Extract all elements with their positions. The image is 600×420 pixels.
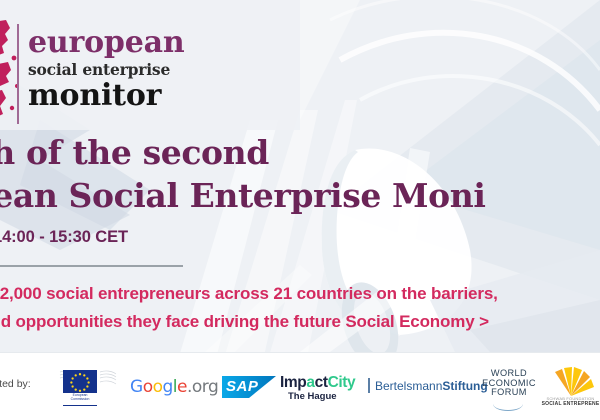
event-description[interactable]: from 2,000 social entrepreneurs across 2… <box>0 280 600 335</box>
impactcity-part-ct: ct <box>315 374 328 391</box>
logo-divider-rule <box>17 24 19 124</box>
section-divider <box>0 265 183 267</box>
sponsor-logo-google-org[interactable]: Google.org <box>130 352 210 420</box>
impactcity-part-imp: Imp <box>280 374 306 391</box>
esem-logo-lockup: european social enterprise monitor <box>0 18 190 128</box>
impactcity-subtitle: The Hague <box>288 391 337 402</box>
impactcity-part-city: City <box>328 374 356 391</box>
event-banner: european social enterprise monitor nch o… <box>0 0 600 420</box>
google-letter-o2: o <box>153 377 163 397</box>
sap-wordmark: SAP <box>226 378 258 395</box>
headline-line-2: opean Social Enterprise Moni <box>0 175 600 218</box>
wef-wordmark: WORLD ECONOMIC FORUM <box>481 369 537 398</box>
eu-caption-line-2: Commission <box>63 397 97 401</box>
description-line-1: from 2,000 social entrepreneurs across 2… <box>0 280 600 308</box>
europe-map-icon <box>0 20 24 126</box>
logo-wordmark: european social enterprise monitor <box>28 28 184 111</box>
sponsor-logo-impactcity[interactable]: ImpactCity The Hague <box>280 352 364 420</box>
google-letter-o1: o <box>143 377 153 397</box>
sponsor-logo-european-commission[interactable]: European Commission <box>50 352 118 420</box>
logo-line-social-enterprise: social enterprise <box>28 62 184 78</box>
schwab-sunburst-icon <box>547 366 595 396</box>
event-datetime: er 15, 14:00 - 15:30 CET <box>0 228 128 247</box>
logo-line-monitor: monitor <box>28 81 184 111</box>
headline-line-1: nch of the second <box>0 132 600 175</box>
sponsor-logo-schwab-foundation[interactable]: SCHWAB FOUNDATION SOCIAL ENTREPRENE <box>541 352 600 420</box>
google-suffix-org: .org <box>187 377 218 397</box>
google-letter-g2: g <box>163 377 173 397</box>
page-title: nch of the second opean Social Enterpris… <box>0 132 600 218</box>
supported-by-label: oorted by: <box>0 378 31 390</box>
bertelsmann-wordmark: BertelsmannStiftung <box>375 379 488 393</box>
description-line-2: es and opportunities they face driving t… <box>0 308 600 336</box>
eu-flag-icon <box>63 370 97 393</box>
sponsor-logo-sap[interactable]: SAP <box>222 352 278 420</box>
google-wordmark: Google.org <box>130 377 218 397</box>
impactcity-wordmark: ImpactCity <box>280 374 355 392</box>
bertelsmann-bar-icon <box>368 378 370 393</box>
impactcity-part-a: a <box>306 374 314 391</box>
sponsor-logo-bertelsmann-stiftung[interactable]: BertelsmannStiftung <box>368 352 478 420</box>
google-letter-e: e <box>177 377 187 397</box>
sponsor-logo-world-economic-forum[interactable]: WORLD ECONOMIC FORUM <box>481 352 537 420</box>
google-letter-g1: G <box>130 377 143 397</box>
sponsor-bar: oorted by: <box>0 352 600 420</box>
bertelsmann-part-1: Bertelsmann <box>375 379 442 393</box>
wef-arc-icon <box>493 397 523 411</box>
logo-line-european: european <box>28 28 184 58</box>
eu-underline <box>63 405 97 406</box>
schwab-caption-line-2: SOCIAL ENTREPRENE <box>541 401 600 407</box>
